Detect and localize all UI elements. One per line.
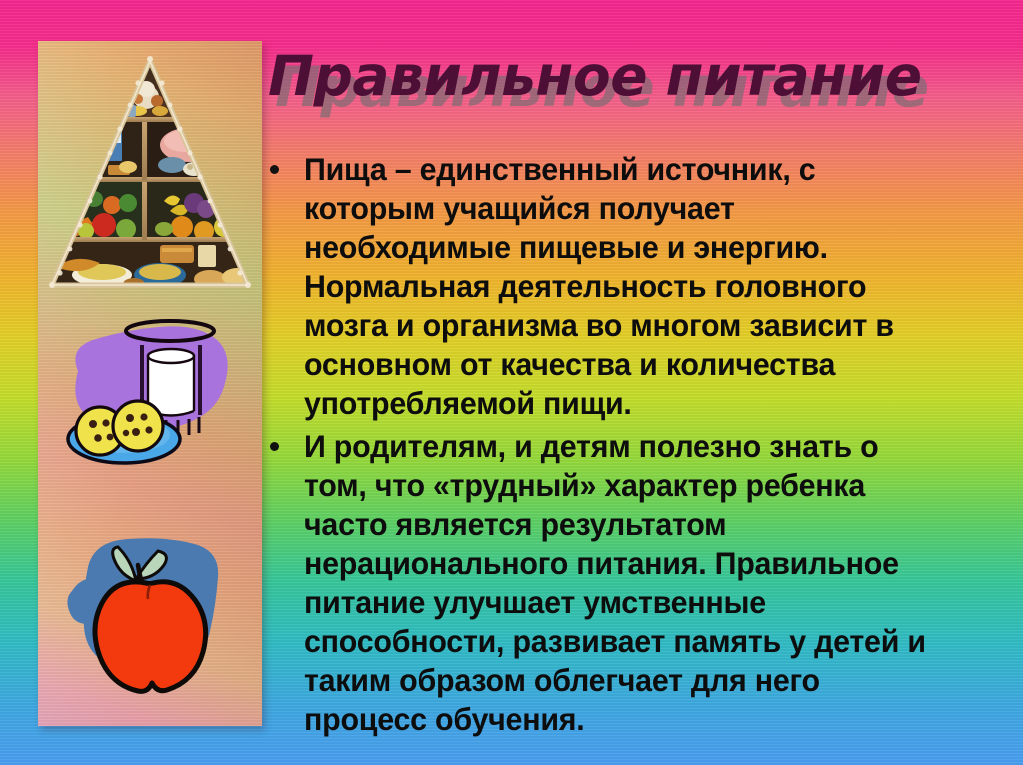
milk-and-cookies-image [54, 311, 246, 491]
food-pyramid-image [42, 53, 258, 295]
slide-canvas: Правильное питание Правильное питание Пи… [0, 0, 1023, 765]
page-title-text: Правильное питание [268, 44, 922, 108]
page-title: Правильное питание Правильное питание [268, 44, 968, 122]
bullet-list: Пища – единственный источник, с которым … [264, 150, 964, 743]
apple-body [95, 582, 206, 692]
pyramid-tier-fruits [148, 182, 258, 241]
bullet-marker-icon [270, 442, 279, 451]
pyramid-tier-meat [148, 122, 258, 180]
bullet-marker-icon [270, 165, 279, 174]
bullet-text: И родителям, и детям полезно знать о том… [304, 427, 941, 739]
illustration-panel [38, 41, 262, 726]
list-item: Пища – единственный источник, с которым … [264, 150, 964, 423]
pyramid-tier-dairy [42, 122, 146, 180]
list-item: И родителям, и детям полезно знать о том… [264, 427, 964, 739]
cookie-group [76, 401, 163, 455]
red-apple-image [62, 519, 242, 709]
bullet-text: Пища – единственный источник, с которым … [304, 150, 941, 423]
